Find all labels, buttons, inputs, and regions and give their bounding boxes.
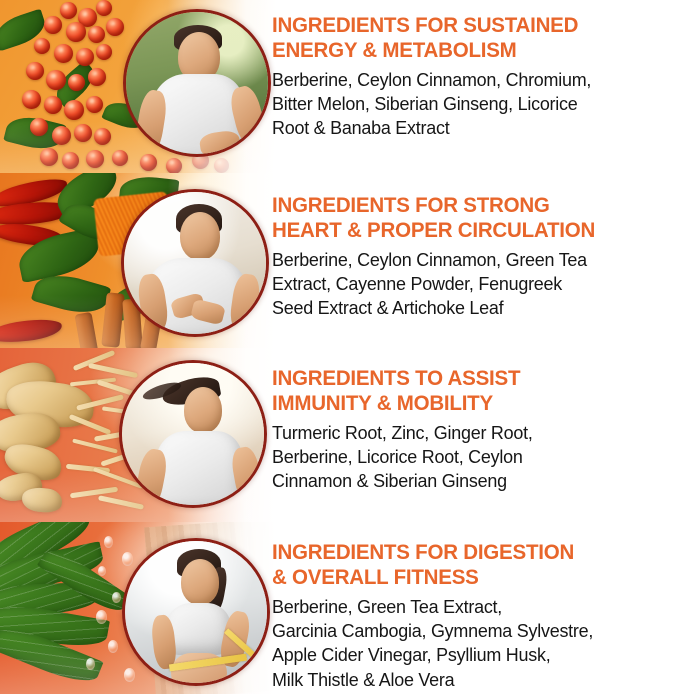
photo-male-runner [126, 12, 268, 154]
section-immunity-mobility: INGREDIENTS TO ASSIST IMMUNITY & MOBILIT… [0, 348, 679, 522]
section-heading: INGREDIENTS FOR STRONG HEART & PROPER CI… [272, 193, 659, 243]
photo-woman-running [122, 363, 264, 505]
section-artwork-berries [0, 0, 300, 173]
lifestyle-photo-circle-fitness [122, 538, 270, 686]
section-artwork-ginger [0, 348, 300, 522]
section-strong-heart-circulation: INGREDIENTS FOR STRONG HEART & PROPER CI… [0, 173, 679, 348]
section-heading: INGREDIENTS TO ASSIST IMMUNITY & MOBILIT… [272, 366, 659, 416]
section-ingredients-list: Berberine, Ceylon Cinnamon, Green Tea Ex… [272, 248, 663, 321]
section-text-block: INGREDIENTS TO ASSIST IMMUNITY & MOBILIT… [272, 348, 677, 494]
section-ingredients-list: Berberine, Green Tea Extract, Garcinia C… [272, 595, 663, 692]
lifestyle-photo-circle-heart [121, 189, 269, 337]
section-text-block: INGREDIENTS FOR STRONG HEART & PROPER CI… [272, 173, 677, 321]
section-heading: INGREDIENTS FOR SUSTAINED ENERGY & METAB… [272, 13, 659, 63]
section-digestion-overall-fitness: INGREDIENTS FOR DIGESTION & OVERALL FITN… [0, 522, 679, 694]
section-text-block: INGREDIENTS FOR SUSTAINED ENERGY & METAB… [272, 0, 677, 141]
lifestyle-photo-circle-mobility [119, 360, 267, 508]
section-ingredients-list: Berberine, Ceylon Cinnamon, Chromium, Bi… [272, 68, 663, 141]
section-artwork-chili-turmeric [0, 173, 300, 348]
section-heading: INGREDIENTS FOR DIGESTION & OVERALL FITN… [272, 540, 659, 590]
section-text-block: INGREDIENTS FOR DIGESTION & OVERALL FITN… [272, 522, 677, 692]
section-ingredients-list: Turmeric Root, Zinc, Ginger Root, Berber… [272, 421, 663, 494]
photo-woman-hands-on-chest [124, 192, 266, 334]
infographic-page: INGREDIENTS FOR SUSTAINED ENERGY & METAB… [0, 0, 679, 694]
photo-woman-measuring-waist [125, 541, 267, 683]
section-artwork-aloe [0, 522, 300, 694]
lifestyle-photo-circle-runner [123, 9, 271, 157]
section-sustained-energy-metabolism: INGREDIENTS FOR SUSTAINED ENERGY & METAB… [0, 0, 679, 173]
